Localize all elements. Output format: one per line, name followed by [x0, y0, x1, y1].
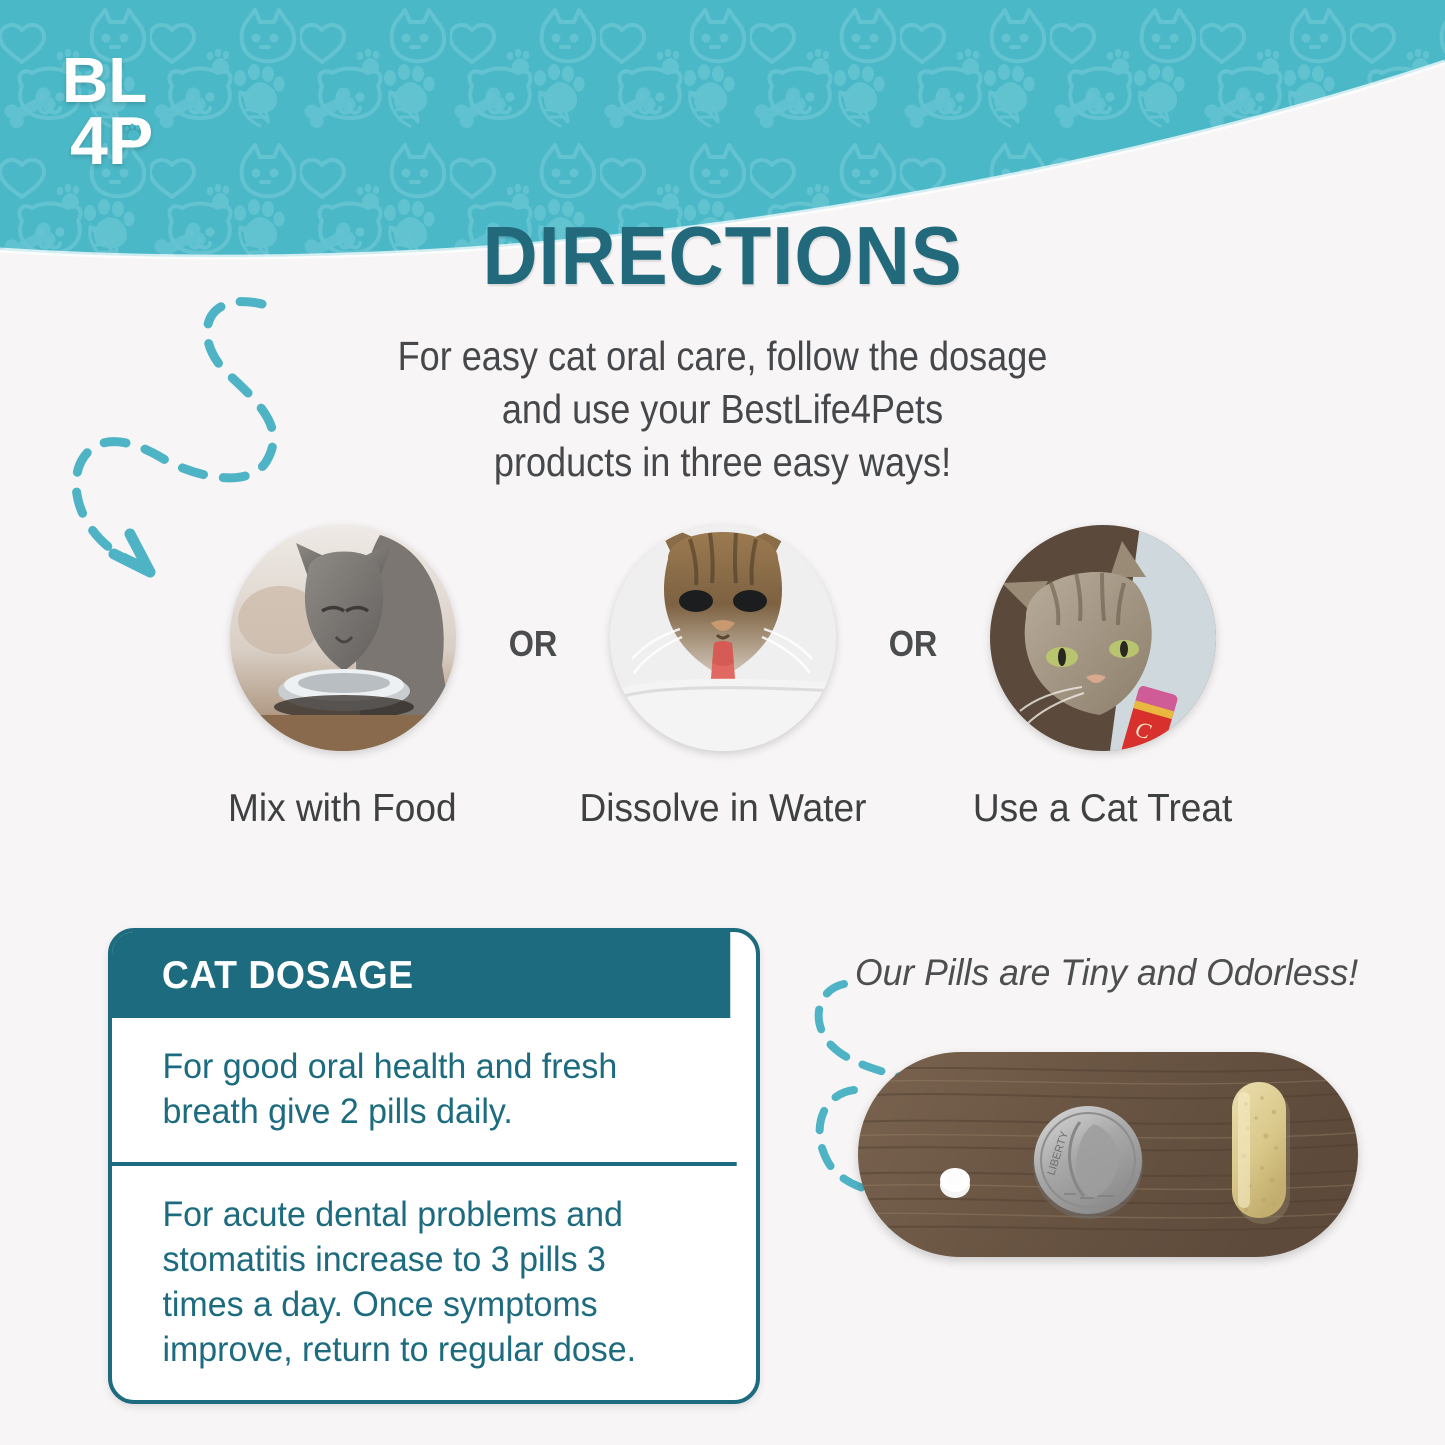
or-separator-2: OR: [863, 623, 962, 665]
cat-licking-water-photo: [610, 525, 836, 751]
cat-with-treat-tube-photo: C: [990, 525, 1216, 751]
cat-eating-from-bowl-photo: [230, 525, 456, 751]
cat-dosage-card: CAT DOSAGE For good oral health and fres…: [108, 928, 760, 1404]
method-use-a-cat-treat: C Use a Cat Treat: [968, 525, 1238, 831]
dosage-row-regular: For good oral health and fresh breath gi…: [112, 1018, 737, 1162]
methods-row: Mix with Food OR: [0, 525, 1445, 831]
logo-text-4p: 4P: [70, 103, 153, 171]
capsule-pill-icon: [1232, 1082, 1290, 1224]
tiny-pill-icon: [940, 1168, 970, 1198]
infographic-page: BL 4P DIRECTIONS For easy cat oral care,…: [0, 0, 1445, 1445]
dime-coin-icon: LIBERTY: [1033, 1106, 1143, 1219]
method-label: Dissolve in Water: [579, 787, 866, 831]
method-dissolve-in-water: Dissolve in Water: [588, 525, 858, 831]
pills-next-to-dime-on-wood-photo: LIBERTY: [858, 1052, 1358, 1257]
method-mix-with-food: Mix with Food: [208, 525, 478, 831]
method-label: Mix with Food: [228, 787, 457, 831]
dosage-row-acute: For acute dental problems and stomatitis…: [112, 1162, 737, 1400]
cat-dosage-heading: CAT DOSAGE: [112, 932, 730, 1018]
method-label: Use a Cat Treat: [973, 787, 1232, 831]
brand-logo: BL 4P: [62, 46, 172, 171]
or-separator-1: OR: [483, 623, 582, 665]
